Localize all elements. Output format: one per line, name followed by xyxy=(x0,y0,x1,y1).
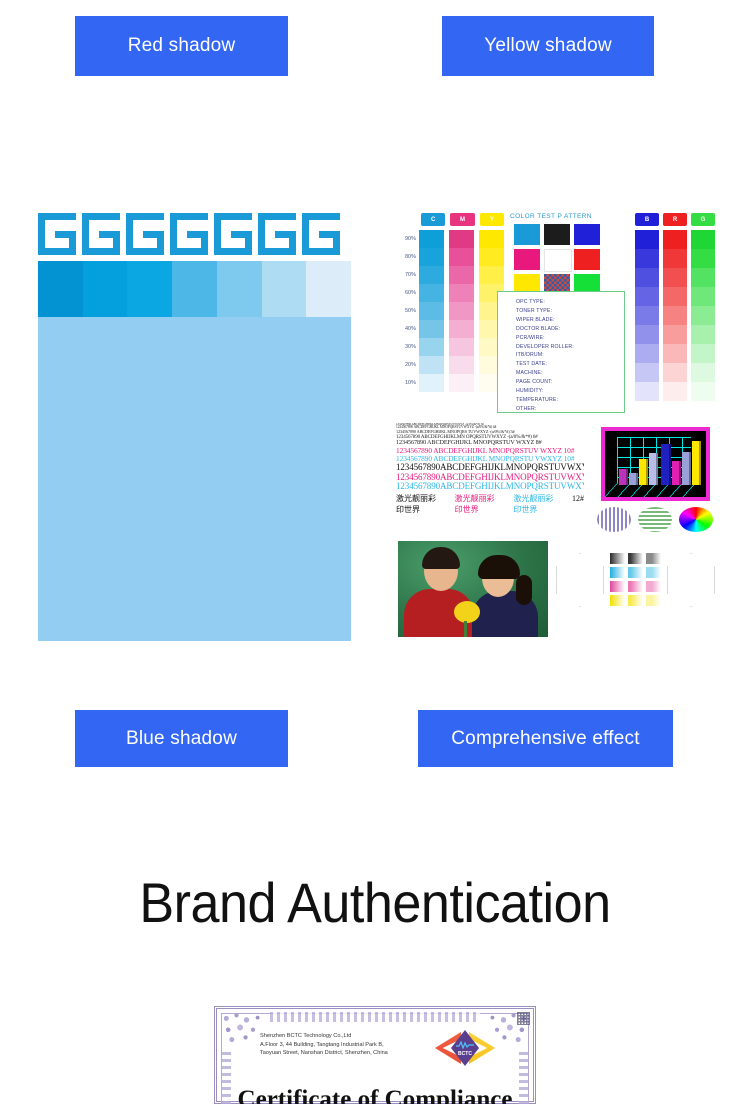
cmy-column-c xyxy=(419,230,444,392)
color-swatch xyxy=(635,325,659,344)
center-grid-swatch xyxy=(574,224,600,245)
color-swatch xyxy=(635,249,659,268)
caption-blue-shadow: Blue shadow xyxy=(75,710,288,767)
color-swatch xyxy=(691,325,715,344)
cmy-percent-label: 60% xyxy=(399,284,419,302)
info-field-label: ITB/DRUM: xyxy=(516,351,624,360)
cmy-header-c: C xyxy=(421,213,445,226)
hexagon-right-icon xyxy=(667,553,715,607)
caption-blue-shadow-label: Blue shadow xyxy=(126,728,237,750)
color-swatch xyxy=(663,325,687,344)
g-letter-glyph xyxy=(302,213,340,255)
g-letter-glyph xyxy=(82,213,120,255)
color-swatch xyxy=(663,306,687,325)
color-swatch xyxy=(449,374,474,392)
brg-header-g: G xyxy=(691,213,715,226)
color-swatch xyxy=(635,363,659,382)
gradient-patch xyxy=(628,581,643,592)
chart-bar xyxy=(649,453,658,485)
center-grid-swatch xyxy=(514,249,540,270)
page-title: Brand Authentication xyxy=(26,870,724,935)
color-swatch xyxy=(449,356,474,374)
horizontal-stripe-ellipse-icon xyxy=(638,507,672,532)
color-swatch xyxy=(479,230,504,248)
gradient-patch xyxy=(610,581,625,592)
cmy-percent-label: 30% xyxy=(399,338,419,356)
caption-yellow-shadow-label: Yellow shadow xyxy=(484,35,612,57)
vertical-stripe-ellipse-icon xyxy=(597,507,631,532)
printer-info-box: OPC TYPE:TONER TYPE:WIPER BLADE:DOCTOR B… xyxy=(497,291,625,413)
resolution-text-line: 1234567890ABCDEFGHIJKLMNOPQRSTUVWXYZ 12 … xyxy=(396,482,584,492)
info-field-label: TEST DATE: xyxy=(516,360,624,369)
gradient-patch xyxy=(610,567,625,578)
blue-shadow-sample-sheet xyxy=(38,213,351,641)
bctc-logo-text: BCTC xyxy=(451,1051,479,1057)
cmy-column-m xyxy=(449,230,474,392)
certificate-corner-ornament-top-left xyxy=(218,1010,264,1048)
color-swatch xyxy=(449,338,474,356)
brg-header-b: B xyxy=(635,213,659,226)
cjk-tail-label: 12# xyxy=(572,494,584,503)
color-swatch xyxy=(663,363,687,382)
info-field-label: MACHINE: xyxy=(516,369,624,378)
color-swatch xyxy=(419,266,444,284)
certificate-address-line-2: Taoyuan Street, Nanshan District, Shenzh… xyxy=(260,1049,388,1058)
gradient-step xyxy=(262,261,307,317)
color-test-pattern-block: COLOR TEST P ATTERN xyxy=(510,213,605,295)
certificate-of-compliance: Shenzhen BCTC Technology Co.,Ltd A.Floor… xyxy=(214,1006,536,1104)
color-swatch xyxy=(663,230,687,249)
color-swatch xyxy=(635,230,659,249)
3d-bar-chart-thumbnail xyxy=(601,427,710,501)
info-field-label: TONER TYPE: xyxy=(516,307,624,316)
color-swatch xyxy=(635,287,659,306)
color-swatch xyxy=(449,284,474,302)
gradient-patch xyxy=(646,581,661,592)
color-swatch xyxy=(449,230,474,248)
g-letter-glyph xyxy=(258,213,296,255)
center-grid-swatch xyxy=(574,249,600,270)
color-swatch xyxy=(691,306,715,325)
cmy-percent-label: 90% xyxy=(399,230,419,248)
bctc-logo-waveform-icon xyxy=(456,1041,474,1049)
flower-stem xyxy=(464,621,467,637)
cjk-text-line: 激光靓丽彩印世界 xyxy=(396,493,441,515)
color-swatch xyxy=(691,382,715,401)
color-swatch xyxy=(691,249,715,268)
blue-gradient-strip xyxy=(38,261,351,317)
gradient-step xyxy=(306,261,351,317)
color-swatch xyxy=(419,284,444,302)
gradient-patch xyxy=(610,553,625,564)
info-field-label: PAGE COUNT: xyxy=(516,378,624,387)
color-swatch xyxy=(691,230,715,249)
color-swatch xyxy=(635,344,659,363)
gradient-patch xyxy=(646,553,661,564)
gradient-step xyxy=(83,261,128,317)
brg-ladder: BRG xyxy=(635,213,715,401)
color-swatch xyxy=(691,363,715,382)
info-field-label: WIPER BLADE: xyxy=(516,316,624,325)
gradient-step xyxy=(127,261,172,317)
gradient-patch xyxy=(646,595,661,606)
cmy-percent-label: 10% xyxy=(399,374,419,392)
cmy-percent-label: 50% xyxy=(399,302,419,320)
info-field-label: DOCTOR BLADE: xyxy=(516,325,624,334)
color-swatch xyxy=(663,249,687,268)
center-color-grid xyxy=(514,224,605,295)
solid-blue-block xyxy=(38,317,351,641)
g-letter-glyph xyxy=(38,213,76,255)
brg-column-b xyxy=(635,230,659,401)
color-swatch xyxy=(663,287,687,306)
bctc-logo: BCTC xyxy=(435,1026,495,1070)
center-grid-swatch xyxy=(514,224,540,245)
ellipse-pattern-row xyxy=(597,507,715,535)
children-photo xyxy=(398,541,548,637)
brg-swatch-columns xyxy=(635,230,715,401)
color-swatch xyxy=(479,266,504,284)
chart-bar xyxy=(619,469,628,485)
color-wheel-ellipse-icon xyxy=(679,507,713,532)
info-field-label: PCR/WIRE: xyxy=(516,334,624,343)
chart-bar xyxy=(661,444,671,485)
gradient-step xyxy=(38,261,83,317)
brg-header-r: R xyxy=(663,213,687,226)
cmy-percent-scale: 90%80%70%60%50%40%30%20%10% xyxy=(399,230,419,392)
hexagon-left-icon xyxy=(556,553,604,607)
gradient-step xyxy=(172,261,217,317)
resolution-text-block: 1234567890 ABCDEFGHIJKLMNOPQRSTUVWXYZ -(… xyxy=(396,423,584,527)
caption-red-shadow-label: Red shadow xyxy=(128,35,236,57)
chart-bar xyxy=(682,452,691,485)
g-letter-glyph xyxy=(214,213,252,255)
certificate-address-line-1: A.Floor 3, 44 Building, Tangtang Industr… xyxy=(260,1041,388,1050)
chart-plot-area xyxy=(605,431,706,497)
cmy-percent-label: 80% xyxy=(399,248,419,266)
caption-yellow-shadow: Yellow shadow xyxy=(442,16,654,76)
color-swatch xyxy=(449,248,474,266)
gradient-patch-grid xyxy=(610,553,662,606)
certificate-top-band xyxy=(270,1012,480,1022)
color-swatch xyxy=(419,356,444,374)
gradient-patch xyxy=(628,553,643,564)
gradient-patch xyxy=(610,595,625,606)
brg-column-g xyxy=(691,230,715,401)
info-field-label: HUMIDITY: xyxy=(516,387,624,396)
cjk-text-line: 激光靓丽彩印世界 xyxy=(513,493,558,515)
color-swatch xyxy=(419,230,444,248)
yellow-flower xyxy=(454,601,480,623)
color-swatch xyxy=(663,382,687,401)
color-swatch xyxy=(635,306,659,325)
girl-ponytail xyxy=(516,575,532,605)
caption-comprehensive-effect: Comprehensive effect xyxy=(418,710,673,767)
caption-red-shadow: Red shadow xyxy=(75,16,288,76)
brg-header-row: BRG xyxy=(635,213,715,226)
center-grid-swatch xyxy=(544,224,570,245)
caption-comprehensive-effect-label: Comprehensive effect xyxy=(451,728,639,750)
cmy-percent-label: 70% xyxy=(399,266,419,284)
color-swatch xyxy=(419,302,444,320)
info-field-label: DEVELOPER ROLLER: xyxy=(516,343,624,352)
color-swatch xyxy=(479,248,504,266)
color-swatch xyxy=(449,320,474,338)
cmy-swatch-columns xyxy=(419,230,504,392)
color-swatch xyxy=(449,302,474,320)
color-swatch xyxy=(419,374,444,392)
cmy-header-y: Y xyxy=(480,213,504,226)
cjk-text-row: 激光靓丽彩印世界激光靓丽彩印世界激光靓丽彩印世界12# xyxy=(396,493,584,515)
g-letter-glyph xyxy=(126,213,164,255)
g-letter-glyph xyxy=(170,213,208,255)
color-swatch xyxy=(663,344,687,363)
cmy-percent-label: 40% xyxy=(399,320,419,338)
color-test-pattern-title: COLOR TEST P ATTERN xyxy=(510,213,605,220)
certificate-title: Certificate of Compliance xyxy=(214,1086,536,1104)
cmy-percent-label: 20% xyxy=(399,356,419,374)
qr-code-icon xyxy=(517,1012,530,1025)
gradient-patch xyxy=(628,595,643,606)
color-swatch xyxy=(663,268,687,287)
certificate-company-block: Shenzhen BCTC Technology Co.,Ltd A.Floor… xyxy=(260,1032,388,1058)
cjk-text-line: 激光靓丽彩印世界 xyxy=(455,493,500,515)
color-swatch xyxy=(449,266,474,284)
color-swatch xyxy=(419,320,444,338)
color-swatch xyxy=(419,338,444,356)
color-swatch xyxy=(691,344,715,363)
gradient-patch xyxy=(628,567,643,578)
chart-bar xyxy=(639,459,648,485)
certificate-company-name: Shenzhen BCTC Technology Co.,Ltd xyxy=(260,1032,388,1041)
chart-bar xyxy=(629,473,638,485)
gradient-patch xyxy=(646,567,661,578)
info-field-label: OTHER: xyxy=(516,405,624,414)
cmy-ladder: CMY 90%80%70%60%50%40%30%20%10% xyxy=(399,213,504,392)
color-test-pattern-sheet: CMY 90%80%70%60%50%40%30%20%10% COLOR TE… xyxy=(392,205,717,645)
chart-bar xyxy=(692,441,701,485)
cmy-header-row: CMY xyxy=(421,213,504,226)
cmy-header-m: M xyxy=(450,213,474,226)
brg-column-r xyxy=(663,230,687,401)
color-swatch xyxy=(635,268,659,287)
info-field-label: OPC TYPE: xyxy=(516,298,624,307)
center-grid-swatch xyxy=(544,249,572,272)
chart-floor xyxy=(604,483,703,497)
color-swatch xyxy=(419,248,444,266)
chart-bar xyxy=(672,461,681,485)
g-letter-row xyxy=(38,213,351,255)
gradient-step xyxy=(217,261,262,317)
color-swatch xyxy=(691,268,715,287)
color-swatch xyxy=(635,382,659,401)
color-swatch xyxy=(691,287,715,306)
info-field-label: TEMPERATURE: xyxy=(516,396,624,405)
